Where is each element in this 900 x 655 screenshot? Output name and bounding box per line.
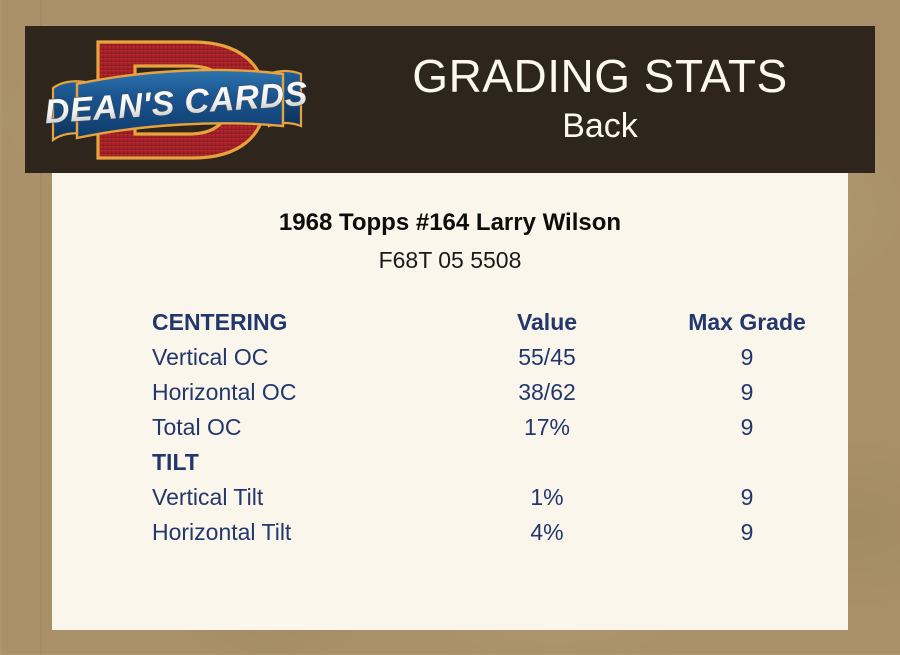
section-label: TILT (152, 445, 452, 480)
page-title: GRADING STATS (412, 52, 787, 100)
logo-svg: DEAN'S CARDS (43, 30, 311, 170)
row-grade: 9 (642, 515, 852, 550)
row-value: 4% (452, 515, 642, 550)
row-label: Vertical Tilt (152, 480, 452, 515)
row-label: Horizontal Tilt (152, 515, 452, 550)
column-header-value: Value (452, 305, 642, 340)
table-row: Horizontal Tilt 4% 9 (152, 515, 852, 550)
page-subtitle: Back (562, 106, 638, 147)
header-text-block: GRADING STATS Back (325, 26, 875, 173)
row-grade: 9 (642, 410, 852, 445)
row-value: 55/45 (452, 340, 642, 375)
table-row: Horizontal OC 38/62 9 (152, 375, 852, 410)
row-label: Horizontal OC (152, 375, 452, 410)
section-header-tilt: TILT (152, 445, 852, 480)
row-grade: 9 (642, 480, 852, 515)
row-value: 1% (452, 480, 642, 515)
row-grade: 9 (642, 375, 852, 410)
row-grade: 9 (642, 340, 852, 375)
table-header-row: CENTERING Value Max Grade (152, 305, 852, 340)
content-panel: 1968 Topps #164 Larry Wilson F68T 05 550… (52, 173, 848, 630)
row-value: 17% (452, 410, 642, 445)
table-row: Total OC 17% 9 (152, 410, 852, 445)
row-value: 38/62 (452, 375, 642, 410)
card-serial: F68T 05 5508 (52, 247, 848, 274)
section-spacer-value (452, 445, 642, 480)
row-label: Vertical OC (152, 340, 452, 375)
deans-cards-logo: DEAN'S CARDS (43, 30, 311, 170)
column-header-max-grade: Max Grade (642, 305, 852, 340)
section-spacer-grade (642, 445, 852, 480)
row-label: Total OC (152, 410, 452, 445)
header-bar: DEAN'S CARDS GRADING STATS Back (25, 26, 875, 173)
table-row: Vertical Tilt 1% 9 (152, 480, 852, 515)
grading-stats-table: CENTERING Value Max Grade Vertical OC 55… (152, 305, 852, 550)
column-header-centering: CENTERING (152, 305, 452, 340)
table-row: Vertical OC 55/45 9 (152, 340, 852, 375)
card-title: 1968 Topps #164 Larry Wilson (52, 209, 848, 237)
